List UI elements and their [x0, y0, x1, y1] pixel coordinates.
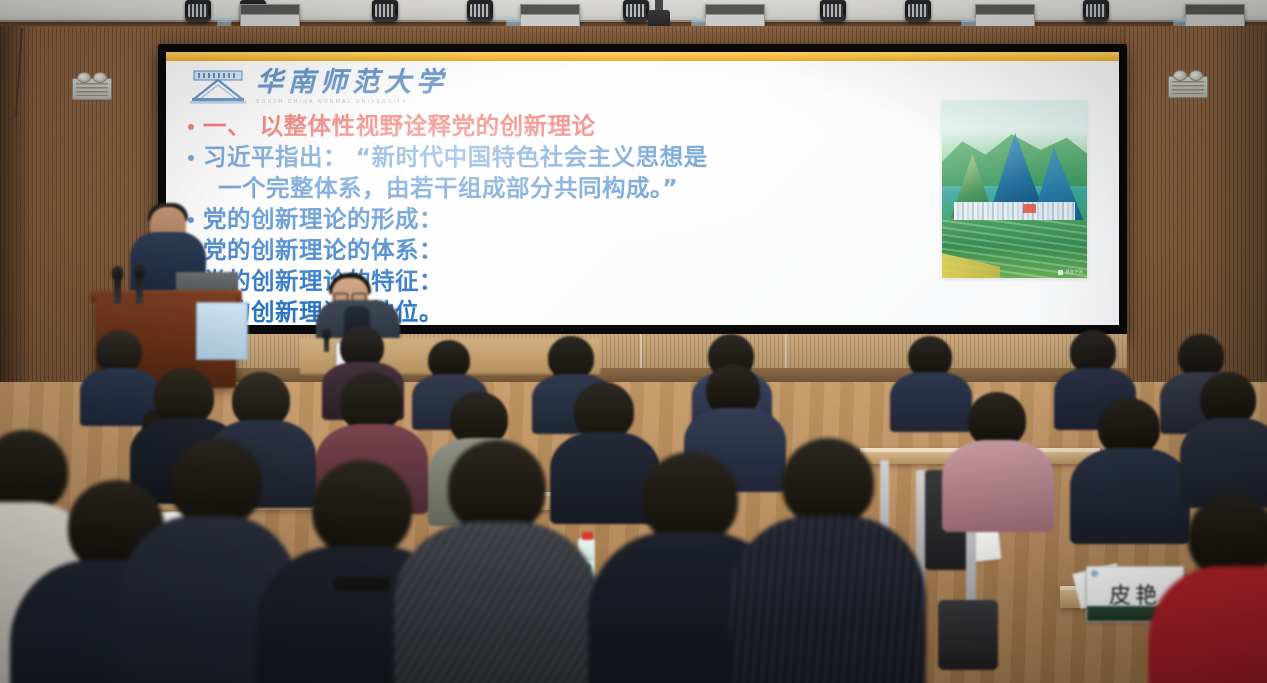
person-body [730, 516, 926, 683]
bullet-item: 党的创新理论的特征： [188, 266, 958, 297]
university-name-cn: 华南师范大学 [256, 69, 448, 96]
emergency-light-face [1172, 81, 1204, 94]
slide-bullet-list: 一、 以整体性视野诠释党的创新理论 习近平指出： “新时代中国特色社会主义思想是… [188, 111, 958, 325]
bullet-dot-icon [188, 124, 194, 130]
bullet-item-continuation: 一个完整体系，由若干组成部分共同构成。” [188, 173, 958, 204]
watermark-icon [1058, 270, 1063, 275]
bullet-dot-icon [203, 186, 209, 192]
person-body [942, 440, 1054, 532]
person-head [448, 440, 546, 534]
bullet-item: 党的创新理论的形成： [188, 204, 958, 235]
bullet-text: 一、 以整体性视野诠释党的创新理论 [203, 111, 596, 142]
spotlight-icon [905, 0, 931, 22]
spotlight-icon [372, 0, 398, 22]
watermark-text: 视觉中国 [1065, 269, 1083, 275]
person-body [890, 372, 972, 432]
nameplate-badge-icon [1091, 570, 1098, 577]
hair-clip-icon [334, 578, 390, 591]
photo-watermark: 视觉中国 [1058, 269, 1083, 275]
bullet-text: 一个完整体系，由若干组成部分共同构成。” [218, 173, 678, 204]
chair-back [938, 600, 998, 670]
person-head [312, 460, 412, 556]
bullet-dot-icon [188, 217, 194, 223]
microphone-stem [324, 338, 329, 352]
photo-village-roof [1023, 204, 1036, 213]
microphone-stem [136, 276, 143, 304]
university-name-en: SOUTH CHINA NORMAL UNIVERSITY [256, 99, 448, 105]
spotlight-icon [623, 0, 649, 22]
podium-side-panel [196, 302, 248, 360]
slide-photo: 视觉中国 [942, 101, 1087, 278]
bullet-text: 党的创新理论的体系： [203, 235, 443, 266]
wall-panel-seam [785, 334, 787, 368]
person-head [170, 438, 262, 526]
presentation-slide[interactable]: 华南师范大学 SOUTH CHINA NORMAL UNIVERSITY 一、 … [166, 61, 1119, 325]
emergency-light-icon [1168, 76, 1208, 98]
university-crest-icon [190, 67, 246, 105]
bottle-cap [582, 532, 593, 540]
bullet-item: 一、 以整体性视野诠释党的创新理论 [188, 111, 958, 142]
emergency-light-icon [72, 78, 112, 100]
spotlight-icon [820, 0, 846, 22]
spotlight-icon [1083, 0, 1109, 22]
person-body [394, 522, 600, 683]
screen-top-bar [166, 52, 1119, 61]
wall-panel-seam [640, 334, 642, 368]
bullet-text: 党的创新理论的形成： [203, 204, 443, 235]
spotlight-icon [185, 0, 211, 22]
bullet-dot-icon [188, 155, 194, 161]
bullet-item: 习近平指出： “新时代中国特色社会主义思想是 [188, 142, 958, 173]
bullet-item: 党的创新理论的体系： [188, 235, 958, 266]
person-head [642, 452, 738, 544]
bullet-item: 党的创新理论的地位。 [188, 297, 958, 325]
spotlight-icon [467, 0, 493, 22]
person-head [782, 438, 874, 526]
microphone-stem [114, 278, 121, 304]
person-head [340, 372, 402, 432]
emergency-light-face [76, 83, 108, 96]
person-body [1070, 448, 1190, 544]
glasses-icon [334, 293, 366, 300]
bullet-text: 习近平指出： “新时代中国特色社会主义思想是 [203, 142, 708, 173]
university-logo: 华南师范大学 SOUTH CHINA NORMAL UNIVERSITY [190, 67, 448, 105]
lecture-hall-scene: 华南师范大学 SOUTH CHINA NORMAL UNIVERSITY 一、 … [0, 0, 1267, 683]
